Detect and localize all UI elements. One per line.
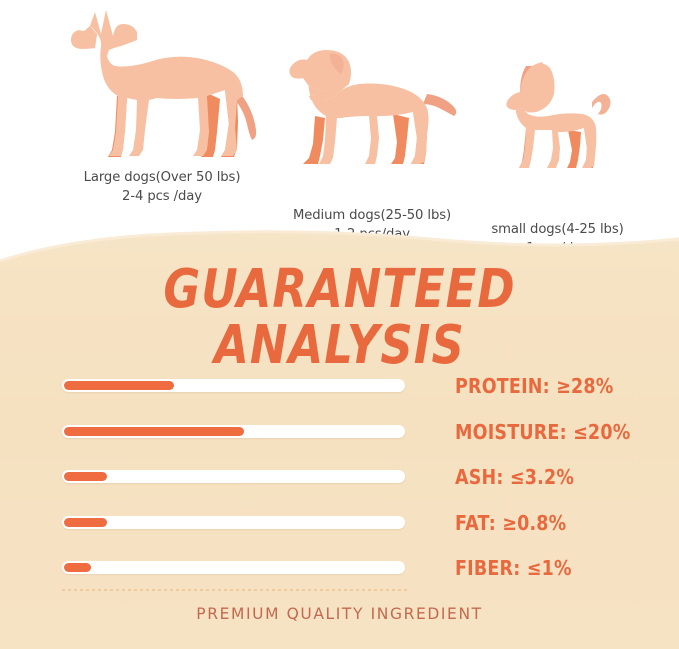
dotted-divider	[62, 589, 407, 591]
ash-bar-fill	[64, 472, 107, 481]
fat-bar-track	[62, 516, 405, 529]
dog-serving-label-large: 2-4 pcs /day	[48, 187, 276, 206]
ash-bar-track	[62, 470, 405, 483]
fiber-bar-fill	[64, 563, 91, 572]
moisture-bar-track	[62, 425, 405, 438]
feeding-guide-section: Large dogs(Over 50 lbs) 2-4 pcs /day	[0, 0, 679, 232]
feeding-column-medium: Medium dogs(25-50 lbs) 1-2 pcs/day	[272, 4, 472, 244]
fiber-bar-track	[62, 561, 405, 574]
dog-size-label-large: Large dogs(Over 50 lbs)	[84, 170, 241, 185]
feeding-column-large: Large dogs(Over 50 lbs) 2-4 pcs /day	[48, 4, 276, 206]
moisture-bar-fill	[64, 427, 244, 436]
great-dane-silhouette	[57, 4, 267, 164]
guaranteed-analysis-panel: GUARANTEED ANALYSIS PROTEIN: ≥28% MOISTU…	[0, 225, 679, 649]
nutrient-row: PROTEIN: ≥28%	[0, 370, 679, 416]
nutrient-row: MOISTURE: ≤20%	[0, 416, 679, 462]
panel-content: GUARANTEED ANALYSIS PROTEIN: ≥28% MOISTU…	[0, 225, 679, 649]
fat-label: FAT: ≥0.8%	[455, 507, 566, 542]
moisture-label: MOISTURE: ≤20%	[455, 416, 630, 451]
ash-label: ASH: ≤3.2%	[455, 461, 574, 496]
dog-size-label-medium: Medium dogs(25-50 lbs)	[293, 208, 451, 223]
feeding-column-small: small dogs(4-25 lbs) 1 pcs/day	[470, 4, 645, 258]
panel-footer-text: PREMIUM QUALITY INGREDIENT	[0, 605, 679, 624]
title-line-2: ANALYSIS	[0, 319, 679, 372]
nutrient-row: ASH: ≤3.2%	[0, 461, 679, 507]
fiber-label: FIBER: ≤1%	[455, 552, 572, 587]
dog-treat-infographic: Large dogs(Over 50 lbs) 2-4 pcs /day	[0, 0, 679, 649]
protein-label: PROTEIN: ≥28%	[455, 370, 613, 405]
nutrient-list: PROTEIN: ≥28% MOISTURE: ≤20% ASH: ≤3.2%	[0, 370, 679, 598]
protein-bar-fill	[64, 381, 174, 390]
chihuahua-silhouette	[498, 56, 618, 216]
protein-bar-track	[62, 379, 405, 392]
feeding-caption-large: Large dogs(Over 50 lbs) 2-4 pcs /day	[48, 168, 276, 206]
page-title: GUARANTEED ANALYSIS	[0, 263, 679, 362]
nutrient-row: FAT: ≥0.8%	[0, 507, 679, 553]
fat-bar-fill	[64, 518, 107, 527]
title-line-1: GUARANTEED	[0, 263, 679, 316]
labrador-silhouette	[281, 42, 463, 202]
